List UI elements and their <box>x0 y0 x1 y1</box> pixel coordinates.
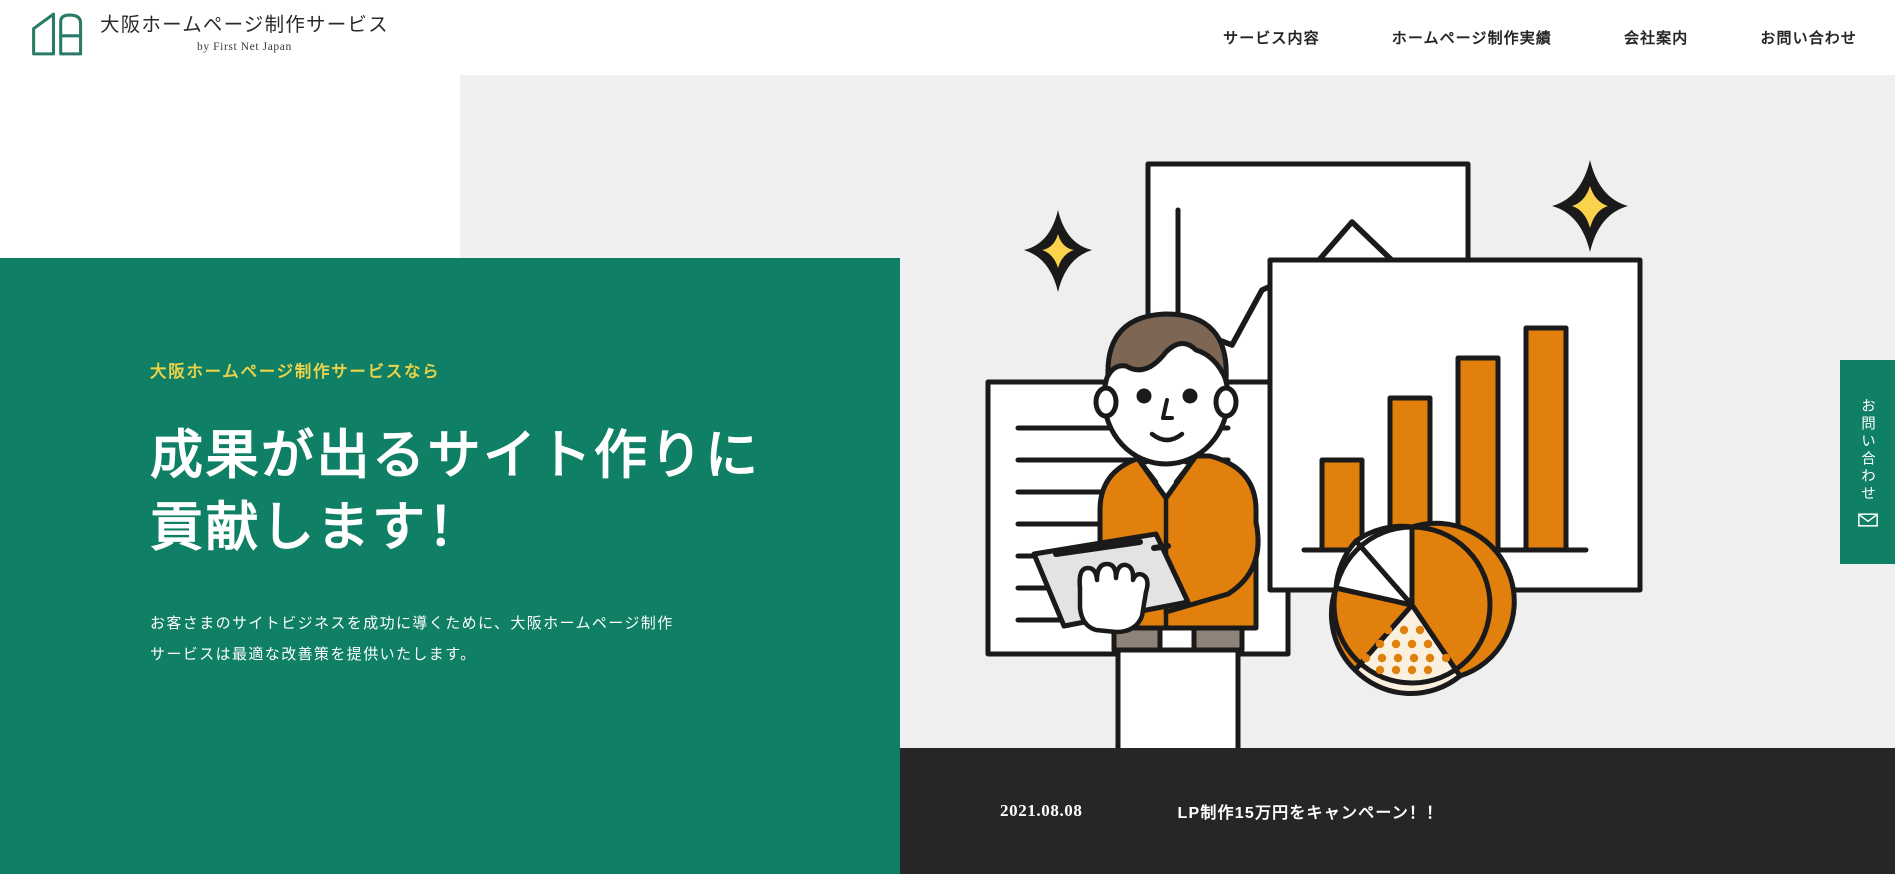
sparkle-small <box>1024 210 1092 292</box>
brand-subtitle: by First Net Japan <box>100 41 389 53</box>
site-header: 大阪ホームページ制作サービス by First Net Japan サービス内容… <box>0 0 1895 75</box>
news-ticker: 2021.08.08 LP制作15万円をキャンペーン！！ <box>900 748 1895 874</box>
pie-chart <box>1331 523 1514 693</box>
nav-item-service[interactable]: サービス内容 <box>1223 27 1320 48</box>
mail-icon <box>1858 513 1878 527</box>
nav-item-works[interactable]: ホームページ制作実績 <box>1392 27 1552 48</box>
hero-content: 大阪ホームページ制作サービスなら 成果が出るサイト作りに 貢献します！ お客さま… <box>150 358 850 670</box>
hero-description-line-2: サービスは最適な改善策を提供いたします。 <box>150 639 850 670</box>
business-analytics-illustration <box>960 150 1680 750</box>
hero-panel: 大阪ホームページ制作サービスなら 成果が出るサイト作りに 貢献します！ お客さま… <box>0 258 900 874</box>
hero-title-line-2: 貢献します！ <box>150 492 850 564</box>
nav-item-company[interactable]: 会社案内 <box>1624 27 1688 48</box>
news-date: 2021.08.08 <box>1000 801 1083 821</box>
landing-page: 大阪ホームページ制作サービス by First Net Japan サービス内容… <box>0 0 1895 874</box>
main-navigation: サービス内容 ホームページ制作実績 会社案内 お問い合わせ <box>1223 0 1857 75</box>
contact-tab-label: お問い合わせ <box>1857 398 1878 503</box>
hero-description-line-1: お客さまのサイトビジネスを成功に導くために、大阪ホームページ制作 <box>150 608 850 639</box>
news-headline-link[interactable]: LP制作15万円をキャンペーン！！ <box>1178 799 1444 823</box>
hero-title-line-1: 成果が出るサイト作りに <box>150 420 850 492</box>
brand-logo[interactable]: 大阪ホームページ制作サービス by First Net Japan <box>30 7 389 58</box>
building-logo-icon <box>30 10 86 58</box>
brand-title: 大阪ホームページ制作サービス <box>100 14 389 36</box>
hero-title: 成果が出るサイト作りに 貢献します！ <box>150 420 850 564</box>
sparkle-large <box>1552 160 1628 252</box>
floating-contact-tab[interactable]: お問い合わせ <box>1840 360 1895 564</box>
nav-item-contact[interactable]: お問い合わせ <box>1760 27 1857 48</box>
hero-eyebrow: 大阪ホームページ制作サービスなら <box>150 358 850 382</box>
hero-description: お客さまのサイトビジネスを成功に導くために、大阪ホームページ制作 サービスは最適… <box>150 608 850 670</box>
